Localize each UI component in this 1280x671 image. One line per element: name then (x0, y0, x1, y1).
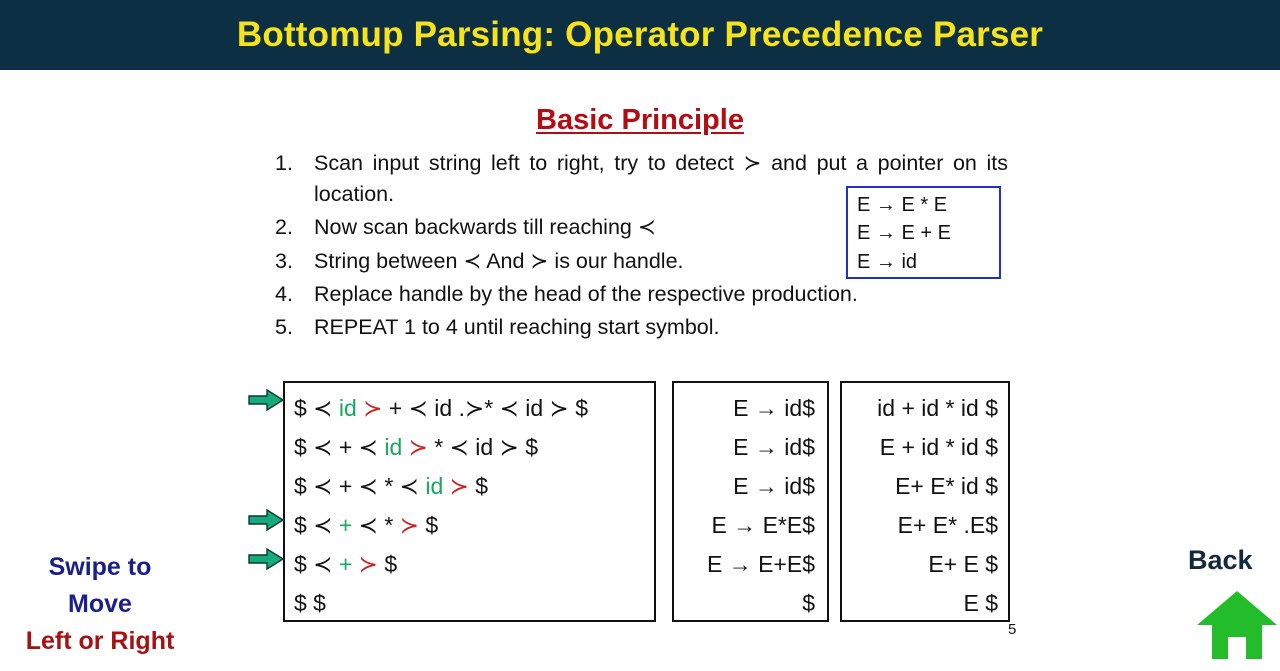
stack-token: $ ≺ (294, 551, 339, 577)
principle-item-number: 3. (275, 246, 293, 277)
pointer-arrow-icon (248, 509, 284, 531)
production-row: E → id$ (680, 428, 815, 467)
page-number: 5 (1008, 621, 1016, 638)
stack-token: + ≺ id .≻* ≺ id ≻ $ (382, 395, 588, 421)
principle-item-number: 1. (275, 148, 293, 179)
slide-title-bar: Bottomup Parsing: Operator Precedence Pa… (0, 0, 1280, 70)
principle-item-text: Now scan backwards till reaching ≺ (314, 215, 656, 239)
pointer-arrow-icon (248, 389, 284, 411)
principle-item-text: String between ≺ And ≻ is our handle. (314, 249, 684, 273)
stack-token: $ ≺ (294, 395, 339, 421)
swipe-hint-line-2: Move (10, 586, 190, 623)
stack-token: id (339, 395, 357, 421)
page-title: Bottomup Parsing: Operator Precedence Pa… (237, 15, 1043, 55)
swipe-hint: Swipe to Move Left or Right (10, 549, 190, 659)
principle-item-number: 2. (275, 212, 293, 243)
production-column: E → id$E → id$E → id$E → E*E$E → E+E$$ (672, 381, 829, 622)
grammar-box: E → E * EE → E + EE → id (846, 186, 1001, 279)
stack-token: ≻ (400, 512, 419, 538)
stack-row: $ ≺ + ≺ * ≻ $ (294, 506, 644, 545)
swipe-hint-line-3: Left or Right (10, 623, 190, 660)
section-heading: Basic Principle (0, 104, 1280, 137)
pointer-arrow-icon (248, 548, 284, 570)
stack-row: $ ≺ + ≺ * ≺ id ≻ $ (294, 467, 644, 506)
stack-token: ≺ * (352, 512, 399, 538)
production-row: E → id$ (680, 389, 815, 428)
principle-item-text: REPEAT 1 to 4 until reaching start symbo… (314, 315, 720, 339)
principle-item-number: 4. (275, 279, 293, 310)
input-row: E+ E* id $ (848, 467, 998, 506)
principle-item: 4.Replace handle by the head of the resp… (268, 279, 1008, 310)
stack-token: $ (469, 473, 488, 499)
input-column: id + id * id $E + id * id $E+ E* id $E+ … (840, 381, 1010, 622)
input-row: E+ E $ (848, 545, 998, 584)
stack-token: $ (419, 512, 438, 538)
stack-row: $ ≺ + ≻ $ (294, 545, 644, 584)
principle-item: 5.REPEAT 1 to 4 until reaching start sym… (268, 312, 1008, 343)
grammar-production: E → E + E (857, 219, 999, 247)
input-row: E + id * id $ (848, 428, 998, 467)
input-row: E+ E* .E$ (848, 506, 998, 545)
home-icon[interactable] (1196, 589, 1278, 661)
stack-token: $ ≺ (294, 512, 339, 538)
production-row: E → E+E$ (680, 545, 815, 584)
stack-token: * ≺ id ≻ $ (428, 434, 538, 460)
production-row: E → id$ (680, 467, 815, 506)
swipe-hint-line-1: Swipe to (10, 549, 190, 586)
principle-item-text: Replace handle by the head of the respec… (314, 282, 858, 306)
stack-token: ≻ (363, 395, 382, 421)
grammar-production: E → id (857, 248, 999, 276)
input-row: E $ (848, 584, 998, 623)
grammar-production: E → E * E (857, 191, 999, 219)
production-row: $ (680, 584, 815, 623)
stack-row: $ ≺ id ≻ + ≺ id .≻* ≺ id ≻ $ (294, 389, 644, 428)
stack-token: id (425, 473, 443, 499)
stack-row: $ $ (294, 584, 644, 623)
stack-token: $ (378, 551, 397, 577)
stack-token: ≻ (450, 473, 469, 499)
stack-column: $ ≺ id ≻ + ≺ id .≻* ≺ id ≻ $$ ≺ + ≺ id ≻… (283, 381, 656, 622)
back-button[interactable]: Back (1188, 545, 1253, 576)
stack-token: ≻ (409, 434, 428, 460)
stack-token: id (384, 434, 402, 460)
stack-token: + (339, 512, 352, 538)
stack-token: $ ≺ + ≺ (294, 434, 384, 460)
input-row: id + id * id $ (848, 389, 998, 428)
principle-item-number: 5. (275, 312, 293, 343)
stack-token: + (339, 551, 352, 577)
production-row: E → E*E$ (680, 506, 815, 545)
stack-token: ≻ (359, 551, 378, 577)
stack-row: $ ≺ + ≺ id ≻ * ≺ id ≻ $ (294, 428, 644, 467)
stack-token: $ ≺ + ≺ * ≺ (294, 473, 425, 499)
stack-token: $ $ (294, 590, 326, 616)
